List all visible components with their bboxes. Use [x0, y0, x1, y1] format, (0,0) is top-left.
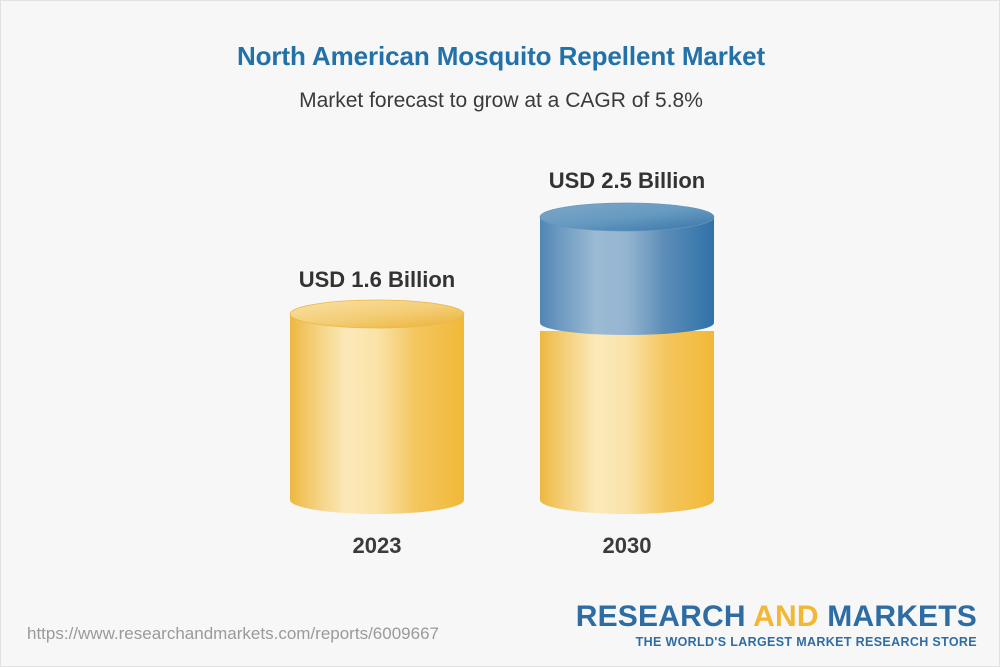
brand-word-and: AND	[753, 600, 819, 633]
bar-2023	[290, 300, 464, 514]
bar-2023-top-cap	[290, 300, 464, 328]
bar-2030-top-body	[540, 217, 714, 335]
bar-2030	[540, 203, 714, 514]
brand-wordmark: RESEARCH AND MARKETS	[576, 602, 977, 632]
category-label-2030: 2030	[540, 533, 714, 559]
category-label-2023: 2023	[290, 533, 464, 559]
brand-tagline: THE WORLD'S LARGEST MARKET RESEARCH STOR…	[576, 636, 977, 649]
source-url-link[interactable]: https://www.researchandmarkets.com/repor…	[27, 624, 439, 644]
chart-canvas: North American Mosquito Repellent Market…	[0, 0, 1000, 667]
bar-2030-top-cap	[540, 203, 714, 231]
brand-logo: RESEARCH AND MARKETS THE WORLD'S LARGEST…	[576, 602, 977, 649]
bar-2023-body	[290, 314, 464, 514]
bars-svg	[1, 1, 1000, 601]
bar-2030-base-body	[540, 331, 714, 514]
brand-word-research: RESEARCH	[576, 600, 753, 633]
value-label-2023: USD 1.6 Billion	[290, 267, 464, 293]
plot-area: USD 1.6 Billion USD 2.5 Billion 2023 203…	[1, 1, 1000, 601]
value-label-2030: USD 2.5 Billion	[540, 168, 714, 194]
brand-word-markets: MARKETS	[819, 600, 977, 633]
